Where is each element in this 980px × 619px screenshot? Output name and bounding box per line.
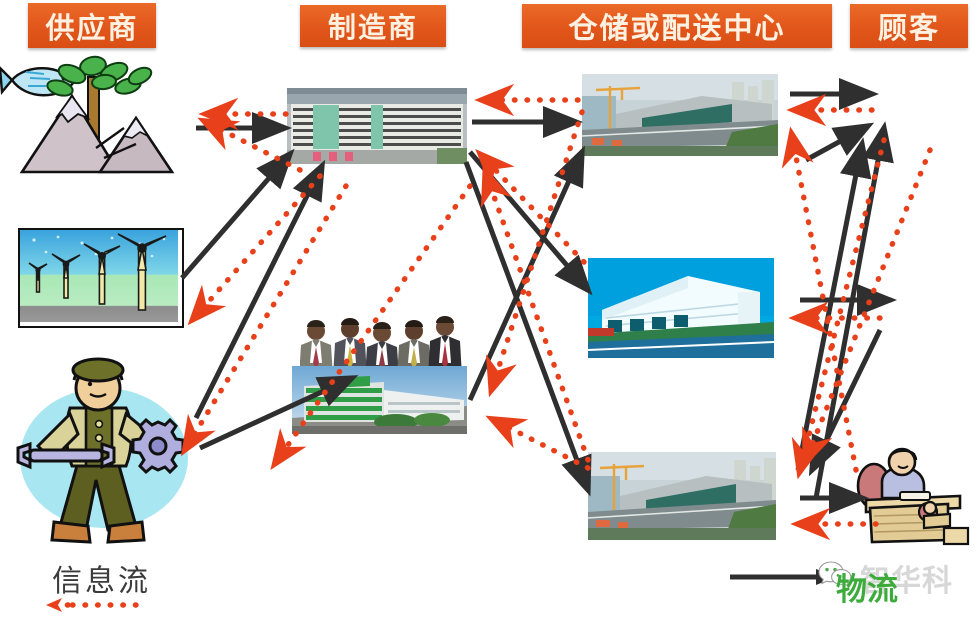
product-arrow-plant-to-wh-bot [466,162,588,490]
watermark-front-text: 物流 [836,564,898,609]
info-arrow-customer-cross-a [806,150,930,460]
info-arrow-wh-to-plantbot-b [494,420,588,468]
product-arrow-worker-to-plant [196,166,322,418]
info-arrow-plantbot-to-worker [276,186,470,462]
info-arrow-plant-to-worker [186,186,346,448]
legend-information-flow: 信息流 [40,556,220,616]
info-arrow-customer-cross-b [800,140,884,470]
info-arrow-wh-to-plant-bot [486,174,588,460]
legend-information-flow-symbol [44,596,156,614]
flow-arrow-layer [0,0,980,619]
supply-chain-diagram: 供应商 制造商 仓储或配送中心 顾客 [0,0,980,619]
product-arrow-plantbot-to-wh-top [470,152,582,400]
watermark: 智华科 物流 [812,552,978,608]
legend-information-flow-label: 信息流 [52,556,151,600]
product-flow-arrows [182,94,890,498]
